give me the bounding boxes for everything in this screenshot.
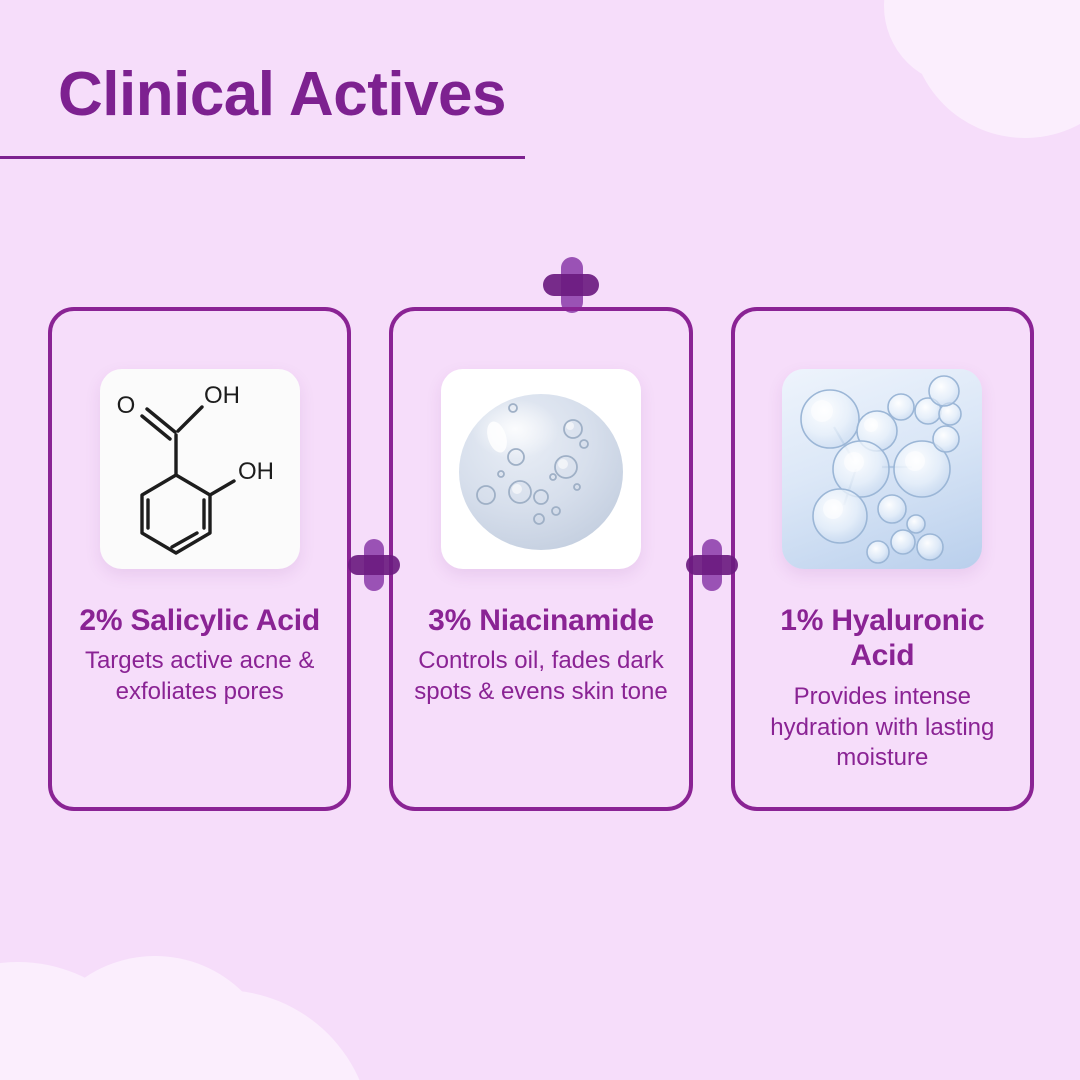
- divider-plus-cross-icon-1: [348, 539, 400, 591]
- molecule-label-O: O: [116, 392, 135, 419]
- background-blob-bottom-left-1: [30, 956, 280, 1080]
- background-blob-bottom-left-3: [72, 990, 372, 1080]
- molecule-label-OH-1: OH: [204, 382, 240, 409]
- title-underline-rule: [0, 156, 525, 159]
- card-description: Targets active acne & exfoliates pores: [66, 646, 333, 707]
- card-description: Provides intense hydration with lasting …: [749, 682, 1016, 774]
- salicylic-acid-molecule-icon: O OH OH: [100, 369, 300, 569]
- active-card-hyaluronic-acid[interactable]: 1% Hyaluronic Acid Provides intense hydr…: [731, 307, 1034, 811]
- card-title: 2% Salicylic Acid: [79, 603, 320, 638]
- gel-droplet-icon: [441, 369, 641, 569]
- plus-horizontal-bar: [348, 555, 400, 575]
- water-molecule-bubbles-icon: [782, 369, 982, 569]
- divider-plus-cross-icon-2: [686, 539, 738, 591]
- card-title: 1% Hyaluronic Acid: [757, 603, 1007, 674]
- molecule-label-OH-2: OH: [238, 458, 274, 485]
- poster-canvas: Clinical Actives: [0, 0, 1080, 1080]
- page-title: Clinical Actives: [0, 64, 1080, 126]
- active-card-niacinamide[interactable]: 3% Niacinamide Controls oil, fades dark …: [389, 307, 692, 811]
- card-title: 3% Niacinamide: [428, 603, 654, 638]
- card-description: Controls oil, fades dark spots & evens s…: [407, 646, 674, 707]
- active-card-salicylic-acid[interactable]: O OH OH 2% Salicylic Acid Targets active…: [48, 307, 351, 811]
- plus-horizontal-bar: [686, 555, 738, 575]
- plus-horizontal-bar: [543, 274, 599, 296]
- background-blob-bottom-left-2: [0, 962, 168, 1080]
- actives-card-row: O OH OH 2% Salicylic Acid Targets active…: [48, 307, 1034, 811]
- header: Clinical Actives: [0, 64, 1080, 182]
- plus-cross-icon: [543, 257, 599, 313]
